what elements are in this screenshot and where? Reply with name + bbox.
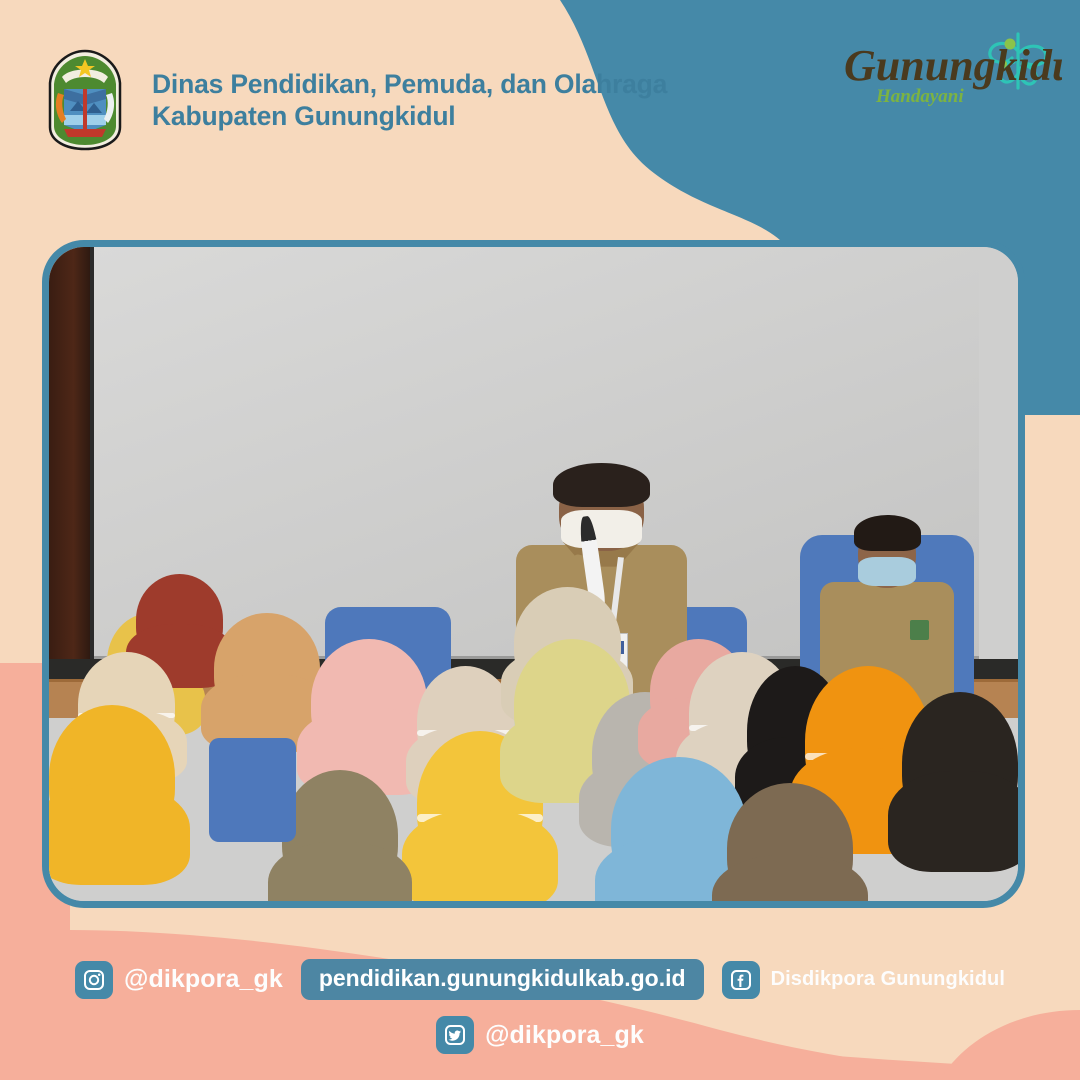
header-title-block: Dinas Pendidikan, Pemuda, dan Olahraga K… — [152, 68, 667, 133]
tourism-tagline: Handayani — [875, 86, 964, 107]
hijab-pink-1 — [311, 639, 427, 763]
event-photo — [49, 247, 1018, 901]
poster-canvas: Dinas Pendidikan, Pemuda, dan Olahraga K… — [0, 0, 1080, 1080]
twitter-item[interactable]: @dikpora_gk — [436, 1016, 644, 1054]
gunungkidul-regency-crest-icon — [42, 49, 128, 151]
hijab-floral-red — [136, 574, 223, 666]
twitter-handle: @dikpora_gk — [485, 1021, 644, 1050]
gunungkidul-handayani-logo: Gunungkidul Handayani — [832, 18, 1062, 128]
footer-row-1: @dikpora_gk pendidikan.gunungkidulkab.go… — [75, 959, 1005, 1000]
instagram-icon[interactable] — [75, 961, 113, 999]
footer-row-2: @dikpora_gk — [436, 1016, 644, 1054]
instagram-item[interactable]: @dikpora_gk — [75, 961, 283, 999]
page-title-line-1: Dinas Pendidikan, Pemuda, dan Olahraga — [152, 68, 667, 100]
hijab-gold-1 — [49, 705, 175, 849]
twitter-icon[interactable] — [436, 1016, 474, 1054]
hijab-olive-1 — [282, 770, 398, 901]
page-title-line-2: Kabupaten Gunungkidul — [152, 100, 667, 132]
mask-strap — [417, 814, 543, 821]
photo-card — [42, 240, 1025, 908]
hijab-dark-2 — [902, 692, 1018, 836]
social-footer: @dikpora_gk pendidikan.gunungkidulkab.go… — [0, 959, 1080, 1054]
hijab-tan-1 — [214, 613, 321, 724]
facebook-page-name: Disdikpora Gunungkidul — [771, 968, 1005, 991]
chair-foreground — [209, 738, 296, 843]
facebook-item[interactable]: Disdikpora Gunungkidul — [722, 961, 1005, 999]
audience-group — [49, 247, 1018, 901]
instagram-handle: @dikpora_gk — [124, 965, 283, 994]
facebook-icon[interactable] — [722, 961, 760, 999]
header: Dinas Pendidikan, Pemuda, dan Olahraga K… — [0, 0, 860, 200]
website-url-button[interactable]: pendidikan.gunungkidulkab.go.id — [301, 959, 704, 1000]
tourism-wordmark: Gunungkidul — [844, 41, 1062, 90]
